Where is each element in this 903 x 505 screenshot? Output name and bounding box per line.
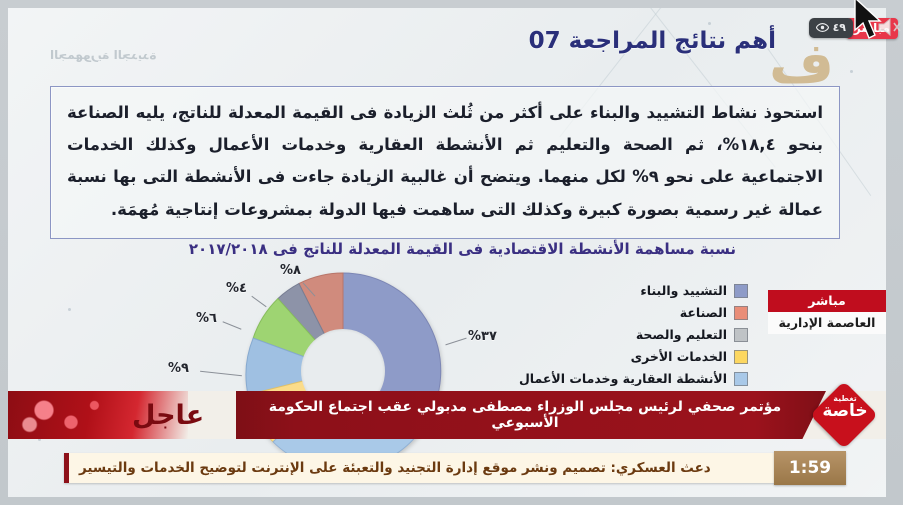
legend-label: التشييد والبناء: [640, 283, 727, 298]
video-player-surface[interactable]: الجمهورية الجديدة ف أهم نتائج المراجعة 0…: [8, 8, 886, 497]
legend-item-real-estate[interactable]: الأنشطة العقارية وخدمات الأعمال: [519, 371, 748, 386]
leader-line-real-estate: [200, 371, 242, 376]
breaking-urgent-label: عاجل: [120, 391, 216, 439]
ticker-strip[interactable]: دعث العسكري: تصميم ونشر موقع إدارة التجن…: [64, 453, 780, 483]
legend-item-construction[interactable]: التشييد والبناء: [519, 283, 748, 298]
legend-item-industry[interactable]: الصناعة: [519, 305, 748, 320]
slice-label-real-estate: %٩: [168, 361, 189, 376]
legend-label: الخدمات الأخرى: [631, 349, 727, 364]
special-coverage-badge: تغطية خاصة: [814, 389, 876, 443]
eye-icon: [816, 23, 829, 32]
slide-number: 07: [529, 28, 561, 54]
speaker-muted-icon[interactable]: [877, 16, 903, 38]
donut-chart: [243, 271, 443, 471]
legend-label: الصناعة: [680, 305, 727, 320]
broadcast-screenshot: الجمهورية الجديدة ف أهم نتائج المراجعة 0…: [0, 0, 903, 505]
legend-swatch-icon: [734, 306, 748, 320]
decorative-dot: [68, 308, 71, 311]
slide-title-text: أهم نتائج المراجعة: [569, 28, 776, 54]
slice-label-construction: %٣٧: [468, 329, 497, 344]
station-location-label: العاصمة الإدارية: [768, 312, 886, 334]
badge-big-text: خاصة: [814, 403, 876, 421]
chart-legend: التشييد والبناء الصناعة التعليم والصحة ا…: [519, 283, 748, 386]
summary-text-box: استحوذ نشاط التشييد والبناء على أكثر من …: [50, 86, 840, 239]
legend-label: التعليم والصحة: [636, 327, 727, 342]
legend-swatch-icon: [734, 372, 748, 386]
breaking-headline: مؤتمر صحفي لرئيس مجلس الوزراء مصطفى مدبو…: [236, 391, 826, 439]
ticker-text: دعث العسكري: تصميم ونشر موقع إدارة التجن…: [69, 460, 721, 476]
legend-label: الأنشطة العقارية وخدمات الأعمال: [519, 371, 727, 386]
badge-text: تغطية خاصة: [814, 395, 876, 421]
views-count: ٤٩: [833, 21, 846, 34]
page-title: أهم نتائج المراجعة 07: [529, 28, 776, 54]
chart-title: نسبة مساهمة الأنشطة الاقتصادية فى القيمة…: [189, 240, 736, 258]
ticker-clock: 1:59: [774, 451, 846, 485]
leader-line-other-services: [223, 321, 242, 329]
news-ticker: دعث العسكري: تصميم ونشر موقع إدارة التجن…: [8, 447, 886, 491]
slide-watermark: الجمهورية الجديدة: [50, 48, 156, 62]
slice-label-education-health: %٤: [226, 281, 247, 296]
slice-label-industry: %٨: [280, 263, 301, 278]
badge-small-text: تغطية: [814, 395, 876, 403]
legend-swatch-icon: [734, 328, 748, 342]
decorative-dot: [708, 22, 711, 25]
presentation-slide: الجمهورية الجديدة ف أهم نتائج المراجعة 0…: [8, 8, 886, 497]
decorative-dot: [850, 70, 853, 73]
legend-item-education-health[interactable]: التعليم والصحة: [519, 327, 748, 342]
breaking-news-bar: عاجل مؤتمر صحفي لرئيس مجلس الوزراء مصطفى…: [8, 391, 886, 439]
legend-swatch-icon: [734, 284, 748, 298]
station-live-label: مباشر: [768, 290, 886, 312]
station-location-overlay: مباشر العاصمة الإدارية: [768, 290, 886, 334]
viewer-count-badge: ٤٩: [809, 18, 853, 38]
slice-label-other-services: %٦: [196, 311, 217, 326]
leader-line-construction: [445, 338, 466, 346]
legend-item-other-services[interactable]: الخدمات الأخرى: [519, 349, 748, 364]
summary-paragraph: استحوذ نشاط التشييد والبناء على أكثر من …: [67, 97, 823, 226]
legend-swatch-icon: [734, 350, 748, 364]
